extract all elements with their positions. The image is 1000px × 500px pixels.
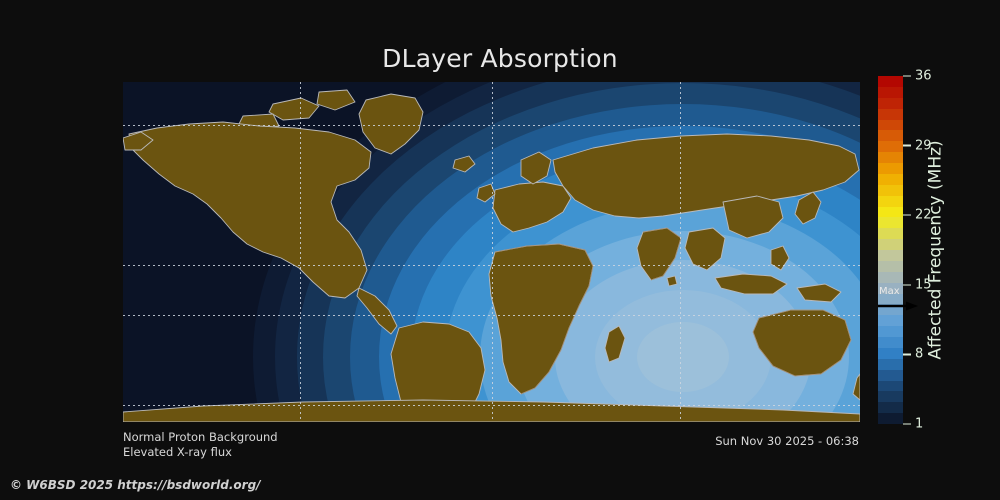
map-canvas bbox=[123, 82, 860, 422]
colorbar-tick-dash bbox=[903, 75, 911, 77]
colorbar-axis-label-text: Affected Frequency (MHz) bbox=[926, 140, 946, 359]
colorbar-band bbox=[878, 217, 903, 228]
colorbar-band bbox=[878, 348, 903, 359]
colorbar-band bbox=[878, 76, 903, 87]
world-map-plot[interactable] bbox=[123, 82, 860, 422]
status-note-xray: Elevated X-ray flux bbox=[123, 445, 232, 459]
colorbar-axis-label: Affected Frequency (MHz) bbox=[921, 76, 951, 424]
colorbar-band bbox=[878, 87, 903, 98]
colorbar-band bbox=[878, 326, 903, 337]
colorbar-band bbox=[878, 120, 903, 131]
colorbar-tick-dash bbox=[903, 214, 911, 216]
colorbar-band bbox=[878, 239, 903, 250]
copyright-notice: © W6BSD 2025 https://bsdworld.org/ bbox=[10, 478, 261, 492]
colorbar-band bbox=[878, 196, 903, 207]
colorbar[interactable] bbox=[878, 76, 903, 424]
page-title: DLayer Absorption bbox=[0, 44, 1000, 73]
colorbar-band bbox=[878, 337, 903, 348]
colorbar-band bbox=[878, 250, 903, 261]
colorbar-band bbox=[878, 141, 903, 152]
colorbar-band bbox=[878, 98, 903, 109]
colorbar-band bbox=[878, 130, 903, 141]
colorbar-band bbox=[878, 261, 903, 272]
max-marker-label: Max bbox=[879, 286, 900, 298]
colorbar-tick-dash bbox=[903, 284, 911, 286]
colorbar-band bbox=[878, 272, 903, 283]
colorbar-band bbox=[878, 163, 903, 174]
timestamp: Sun Nov 30 2025 - 06:38 bbox=[715, 434, 859, 448]
colorbar-band bbox=[878, 370, 903, 381]
colorbar-band bbox=[878, 413, 903, 424]
colorbar-band bbox=[878, 109, 903, 120]
colorbar-tick-dash bbox=[903, 354, 911, 356]
colorbar-band bbox=[878, 185, 903, 196]
colorbar-band bbox=[878, 381, 903, 392]
colorbar-band bbox=[878, 315, 903, 326]
colorbar-band bbox=[878, 359, 903, 370]
colorbar-tick-dash bbox=[903, 145, 911, 147]
colorbar-tick-dash bbox=[903, 423, 911, 425]
colorbar-band bbox=[878, 174, 903, 185]
colorbar-band bbox=[878, 402, 903, 413]
status-note-proton: Normal Proton Background bbox=[123, 430, 278, 444]
colorbar-band bbox=[878, 391, 903, 402]
dlayer-absorption-map-page: DLayer Absorption bbox=[0, 0, 1000, 500]
colorbar-band bbox=[878, 152, 903, 163]
colorbar-band bbox=[878, 228, 903, 239]
colorbar-band bbox=[878, 207, 903, 218]
